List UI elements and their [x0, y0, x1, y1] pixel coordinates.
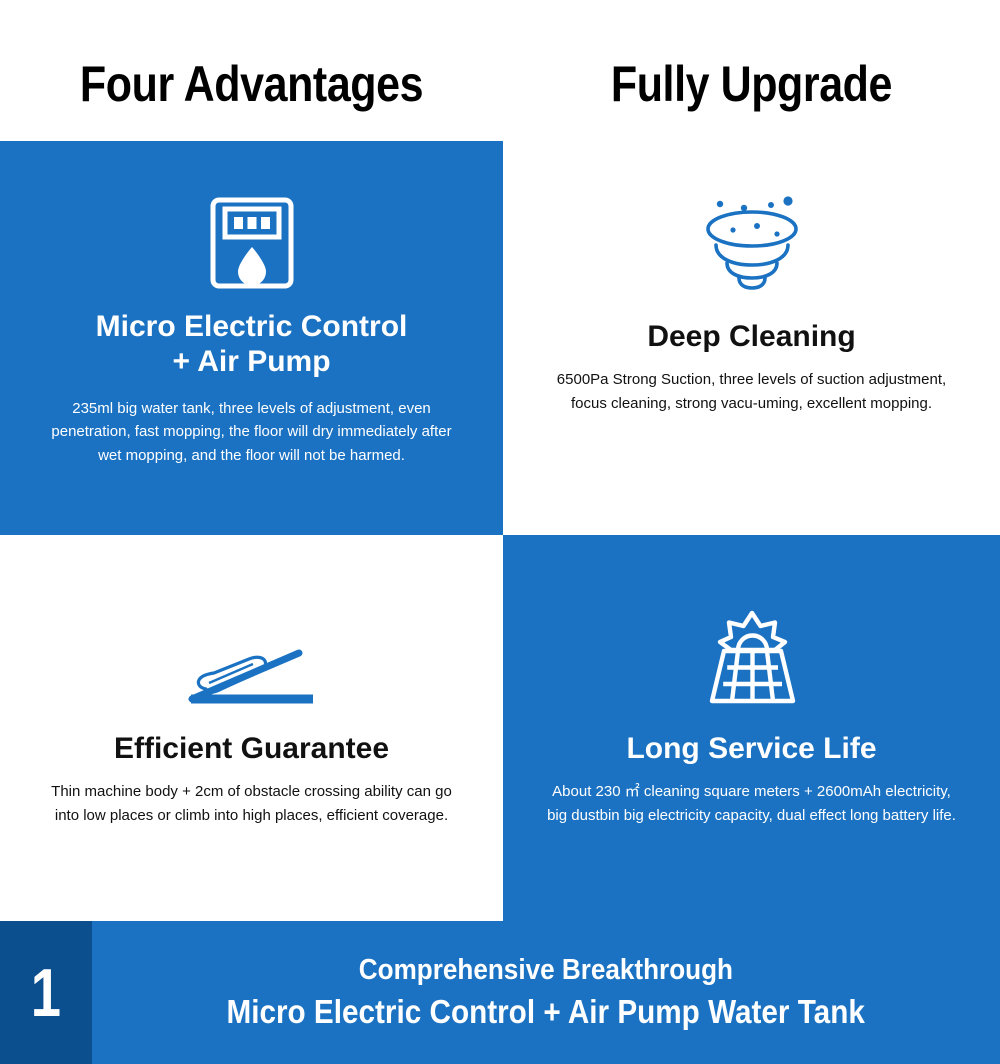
headings-row: Four Advantages Fully Upgrade [0, 0, 1000, 141]
banner-subheadline: Micro Electric Control + Air Pump Water … [227, 995, 865, 1030]
water-tank-icon [208, 141, 296, 291]
advantage-card-deep-cleaning: Deep Cleaning 6500Pa Strong Suction, thr… [503, 141, 1000, 535]
banner-number-block: 1 [0, 921, 92, 1064]
card-title: Micro Electric Control + Air Pump [96, 309, 408, 380]
card-title: Deep Cleaning [647, 319, 855, 354]
heading-cell-right: Fully Upgrade [503, 0, 1000, 141]
banner-step-number: 1 [31, 959, 61, 1027]
ramp-climb-icon [187, 535, 317, 705]
advantage-card-micro-electric-control: Micro Electric Control + Air Pump 235ml … [0, 141, 503, 535]
card-body: About 230 ㎡ cleaning square meters + 260… [542, 780, 962, 827]
advantage-card-long-service-life: Long Service Life About 230 ㎡ cleaning s… [503, 535, 1000, 921]
banner-headline: Comprehensive Breakthrough [359, 955, 733, 985]
bottom-banner: 1 Comprehensive Breakthrough Micro Elect… [0, 921, 1000, 1064]
card-title: Efficient Guarantee [114, 731, 389, 766]
card-body: 235ml big water tank, three levels of ad… [42, 397, 462, 468]
banner-text-block: Comprehensive Breakthrough Micro Electri… [92, 921, 1000, 1064]
card-title: Long Service Life [626, 731, 876, 766]
card-body: 6500Pa Strong Suction, three levels of s… [542, 368, 962, 415]
page-title-right: Fully Upgrade [611, 33, 892, 109]
card-body: Thin machine body + 2cm of obstacle cros… [42, 780, 462, 827]
heading-cell-left: Four Advantages [0, 0, 503, 141]
advantages-grid: Micro Electric Control + Air Pump 235ml … [0, 141, 1000, 921]
page-title-left: Four Advantages [80, 33, 423, 109]
advantage-card-efficient-guarantee: Efficient Guarantee Thin machine body + … [0, 535, 503, 921]
solar-panel-icon [702, 535, 802, 705]
suction-vortex-icon [698, 141, 806, 291]
